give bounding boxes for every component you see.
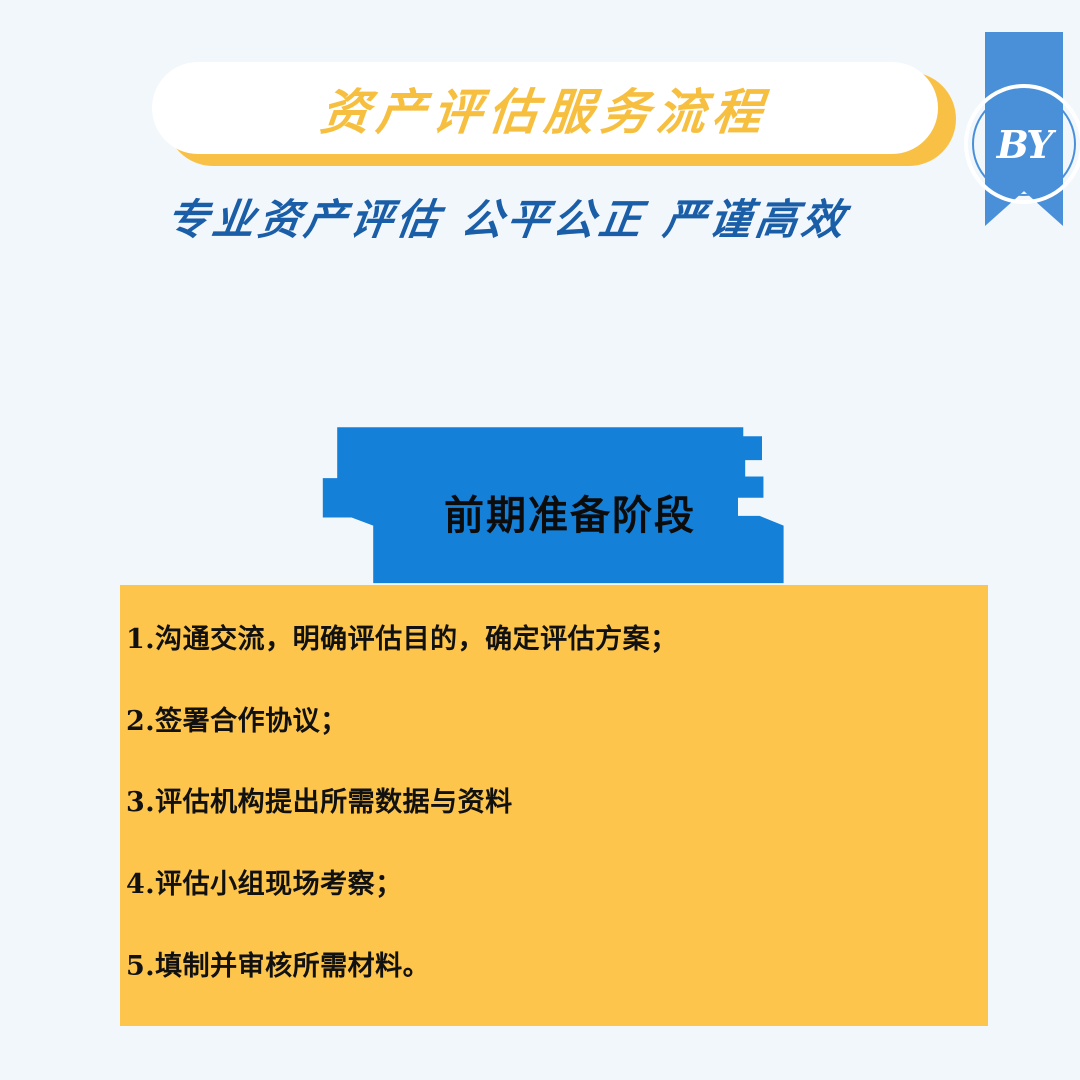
section-banner: 前期准备阶段	[318, 424, 798, 588]
list-item: 3.评估机构提出所需数据与资料	[126, 788, 958, 818]
steps-card: 1.沟通交流，明确评估目的，确定评估方案； 2.签署合作协议； 3.评估机构提出…	[120, 585, 988, 1026]
brand-ribbon-badge: BY	[985, 32, 1063, 226]
steps-list: 1.沟通交流，明确评估目的，确定评估方案； 2.签署合作协议； 3.评估机构提出…	[126, 625, 958, 981]
banner-label-wrap: 前期准备阶段	[318, 424, 798, 588]
list-item: 5.填制并审核所需材料。	[126, 952, 958, 982]
list-item: 4.评估小组现场考察；	[126, 870, 958, 900]
badge-ring: BY	[964, 84, 1080, 204]
subtitle-row: 专业资产评估 公平公正 严谨高效	[0, 186, 1080, 247]
section-title: 前期准备阶段	[444, 483, 696, 541]
page-header: 资产评估服务流程 专业资产评估 公平公正 严谨高效	[0, 0, 1080, 270]
page-subtitle: 专业资产评估 公平公正 严谨高效	[163, 186, 853, 247]
list-item: 2.签署合作协议；	[126, 707, 958, 737]
page-title: 资产评估服务流程	[317, 73, 772, 144]
badge-label: BY	[997, 122, 1052, 167]
list-item: 1.沟通交流，明确评估目的，确定评估方案；	[126, 625, 958, 655]
title-pill: 资产评估服务流程	[152, 62, 938, 154]
